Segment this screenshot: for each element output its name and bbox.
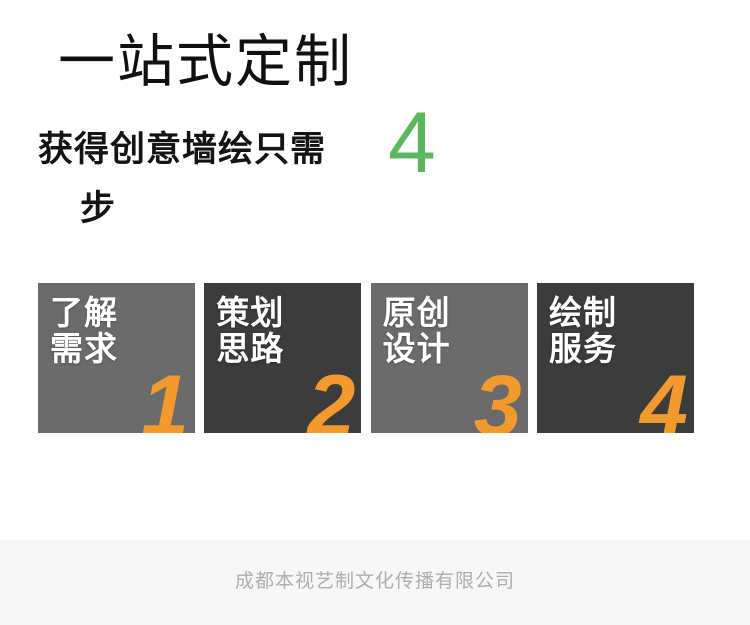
step-card-2-label-line-1: 策划 <box>216 295 284 331</box>
step-card-4[interactable]: 绘制 服务 4 <box>537 283 694 433</box>
step-count-number: 4 <box>388 100 436 186</box>
step-card-3-label: 原创 设计 <box>383 295 451 366</box>
step-card-1-label-line-2: 需求 <box>50 331 118 367</box>
step-card-3[interactable]: 原创 设计 3 <box>371 283 528 433</box>
step-card-4-label-line-2: 服务 <box>549 331 617 367</box>
step-card-1-label-line-1: 了解 <box>50 295 118 331</box>
step-card-3-label-line-2: 设计 <box>383 331 451 367</box>
step-card-4-label: 绘制 服务 <box>549 295 617 366</box>
step-card-3-number: 3 <box>474 363 522 433</box>
step-card-4-number: 4 <box>640 363 688 433</box>
footer-company-name: 成都本视艺制文化传播有限公司 <box>0 566 750 593</box>
step-card-3-label-line-1: 原创 <box>383 295 451 331</box>
step-card-2-label-line-2: 思路 <box>216 331 284 367</box>
page-title: 一站式定制 <box>58 30 353 96</box>
step-card-1[interactable]: 了解 需求 1 <box>38 283 195 433</box>
step-card-1-label: 了解 需求 <box>50 295 118 366</box>
promo-poster: 一站式定制 获得创意墙绘只需 步 4 了解 需求 1 策划 思路 2 原创 设计… <box>0 0 750 625</box>
step-card-4-label-line-1: 绘制 <box>549 295 617 331</box>
subheadline-line-2: 步 <box>80 185 458 232</box>
step-card-2-number: 2 <box>307 363 355 433</box>
step-card-2[interactable]: 策划 思路 2 <box>204 283 361 433</box>
step-card-2-label: 策划 思路 <box>216 295 284 366</box>
step-card-list: 了解 需求 1 策划 思路 2 原创 设计 3 绘制 服务 4 <box>38 283 694 433</box>
step-card-1-number: 1 <box>141 363 189 433</box>
